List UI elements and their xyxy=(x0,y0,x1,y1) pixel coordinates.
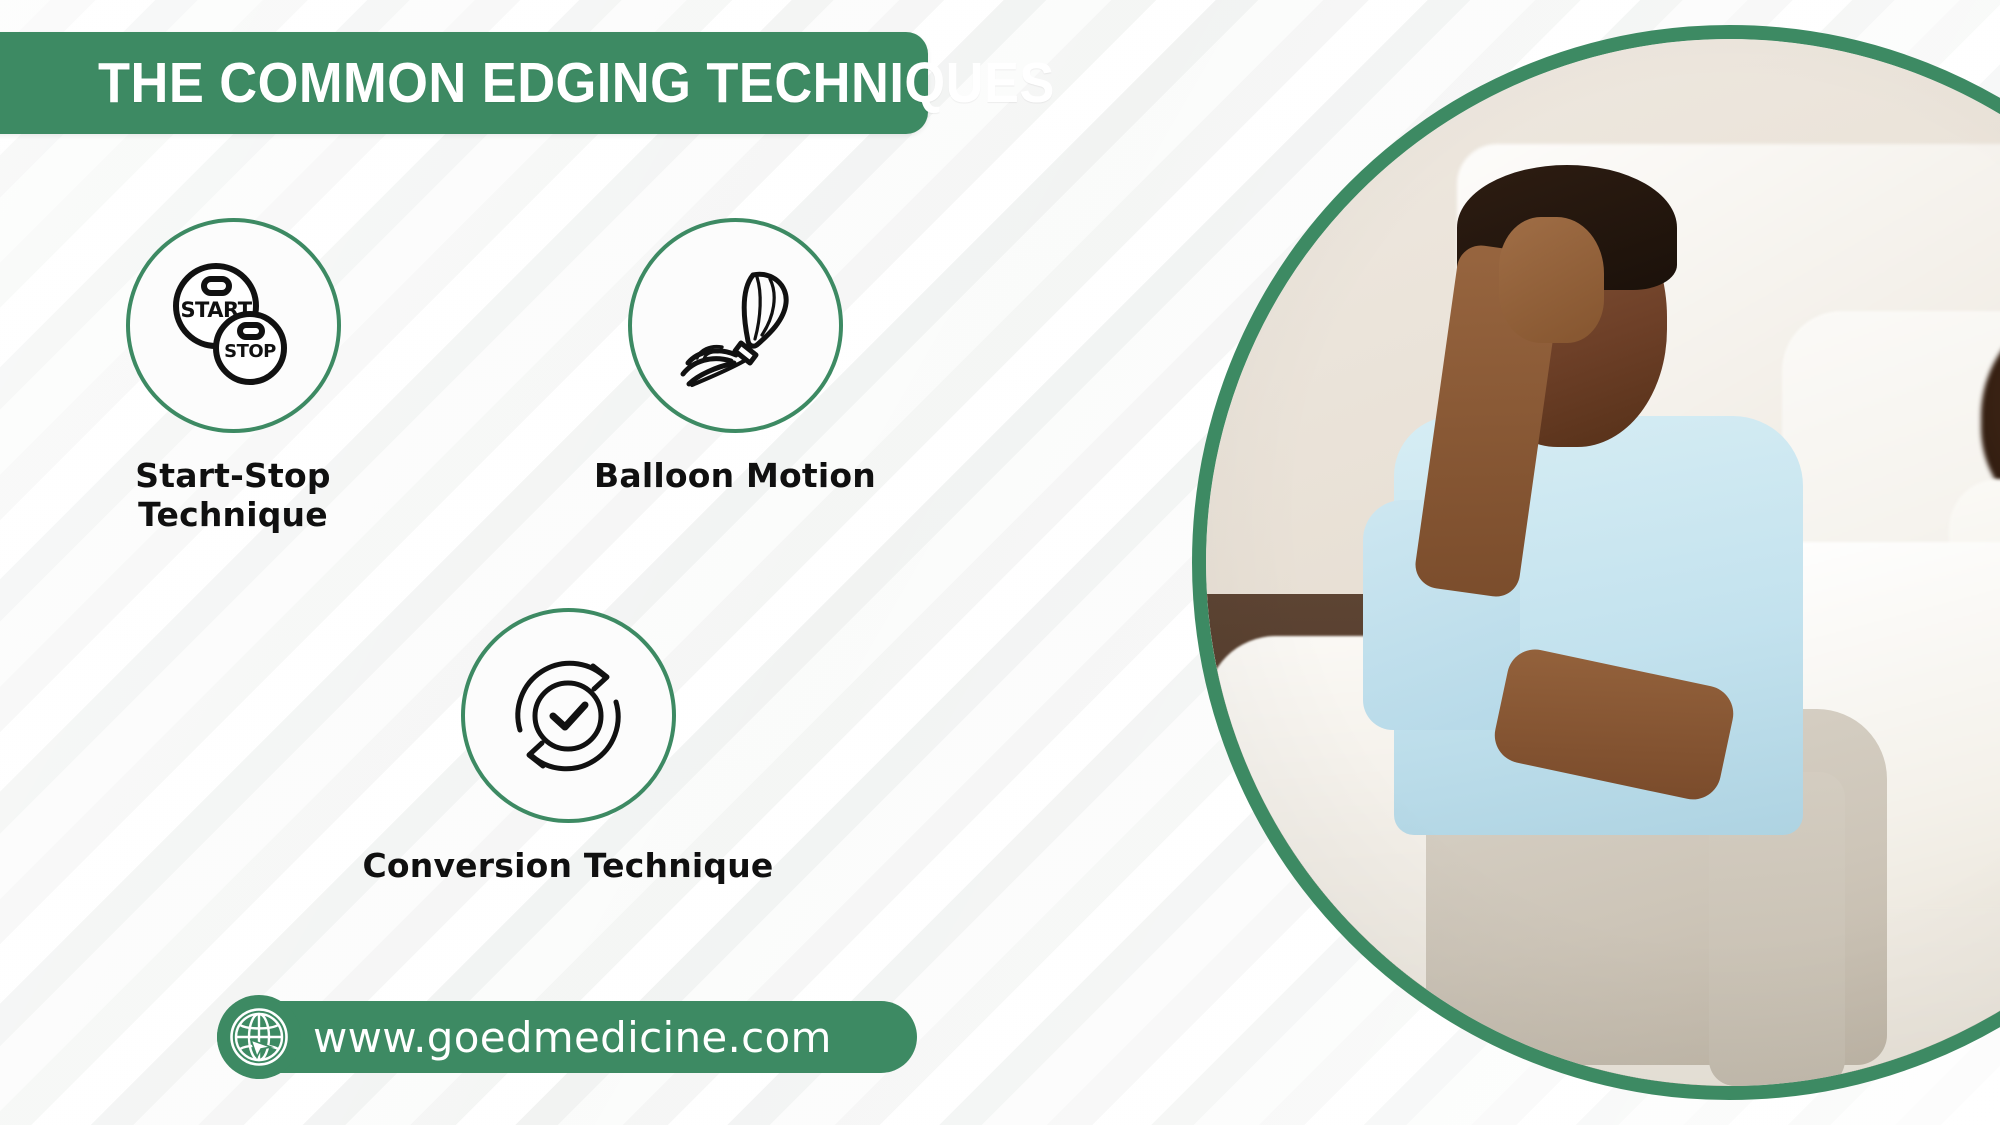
photo-image xyxy=(1206,39,2000,1086)
title-banner: THE COMMON EDGING TECHNIQUES xyxy=(0,32,928,134)
photo-vignette xyxy=(1206,39,2000,1086)
technique-icon-circle xyxy=(628,218,843,433)
technique-label-start-stop: Start-Stop Technique xyxy=(135,457,330,535)
poster-canvas: THE COMMON EDGING TECHNIQUES START STOP … xyxy=(0,0,2000,1125)
start-stop-buttons-icon: START STOP xyxy=(158,251,308,401)
photo-circle-frame xyxy=(1192,25,2000,1100)
page-title: THE COMMON EDGING TECHNIQUES xyxy=(0,50,1055,116)
technique-icon-circle xyxy=(461,608,676,823)
start-label: START xyxy=(180,298,252,322)
technique-label-balloon-motion: Balloon Motion xyxy=(594,457,876,496)
technique-item-start-stop[interactable]: START STOP Start-Stop Technique xyxy=(103,218,363,535)
globe-icon xyxy=(228,1006,290,1068)
technique-label-conversion: Conversion Technique xyxy=(362,847,773,886)
globe-icon-badge xyxy=(217,995,301,1079)
stop-label: STOP xyxy=(224,341,276,362)
circular-arrows-checkmark-icon xyxy=(498,646,638,786)
technique-item-conversion[interactable]: Conversion Technique xyxy=(328,608,808,886)
website-url-pill[interactable]: www.goedmedicine.com xyxy=(217,1001,917,1073)
hot-air-balloon-motion-icon xyxy=(658,251,813,401)
technique-icon-circle: START STOP xyxy=(126,218,341,433)
website-url-text: www.goedmedicine.com xyxy=(313,1013,832,1062)
technique-item-balloon-motion[interactable]: Balloon Motion xyxy=(570,218,900,496)
